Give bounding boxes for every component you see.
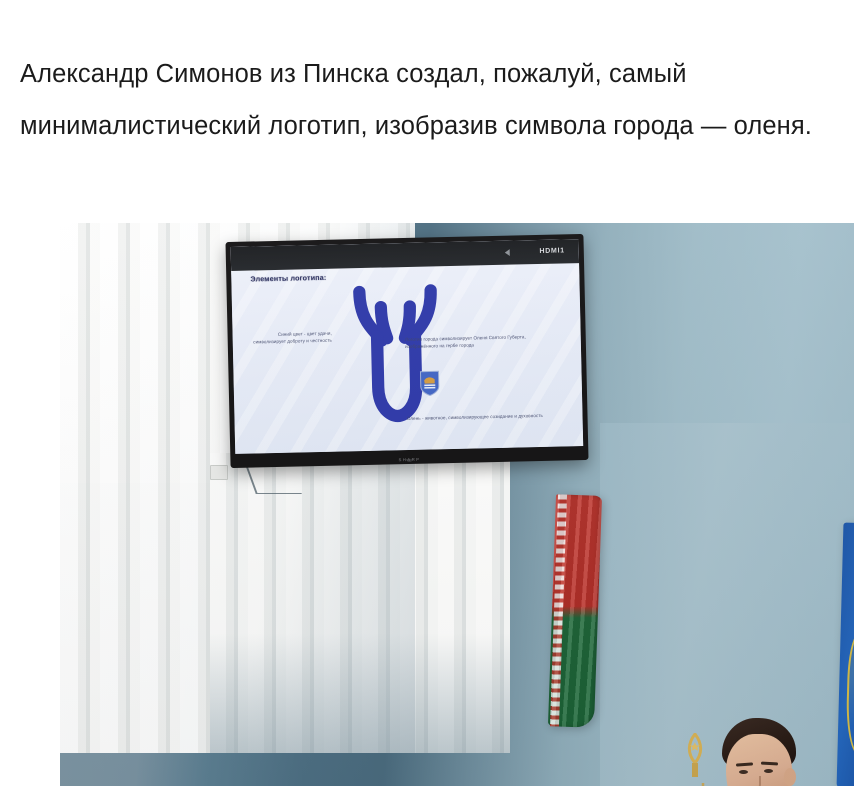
speaker-eye-left [739, 770, 748, 774]
article-photo: HDMI1 Элементы логотипа: [60, 223, 854, 786]
tv-screen: HDMI1 Элементы логотипа: [231, 239, 584, 454]
speaker-nose [750, 776, 761, 786]
speaker-ear [784, 768, 796, 786]
presentation-slide: HDMI1 Элементы логотипа: [231, 239, 584, 454]
belarus-flag [548, 494, 602, 727]
deer-logo [324, 281, 470, 429]
article-lead-paragraph: Александр Симонов из Пинска создал, пожа… [20, 48, 848, 152]
presentation-tv: HDMI1 Элементы логотипа: [225, 234, 588, 468]
slide-note-color: Синий цвет - цвет удачи, символизирует д… [250, 330, 332, 346]
speaker-person [688, 718, 854, 786]
slide-body: Синий цвет - цвет удачи, символизирует д… [231, 239, 584, 454]
pinsk-coat-of-arms [420, 371, 441, 397]
wall-socket [210, 465, 228, 480]
slide-note-logo-meaning: Логотип города символизирует Оленя Свято… [405, 333, 548, 350]
